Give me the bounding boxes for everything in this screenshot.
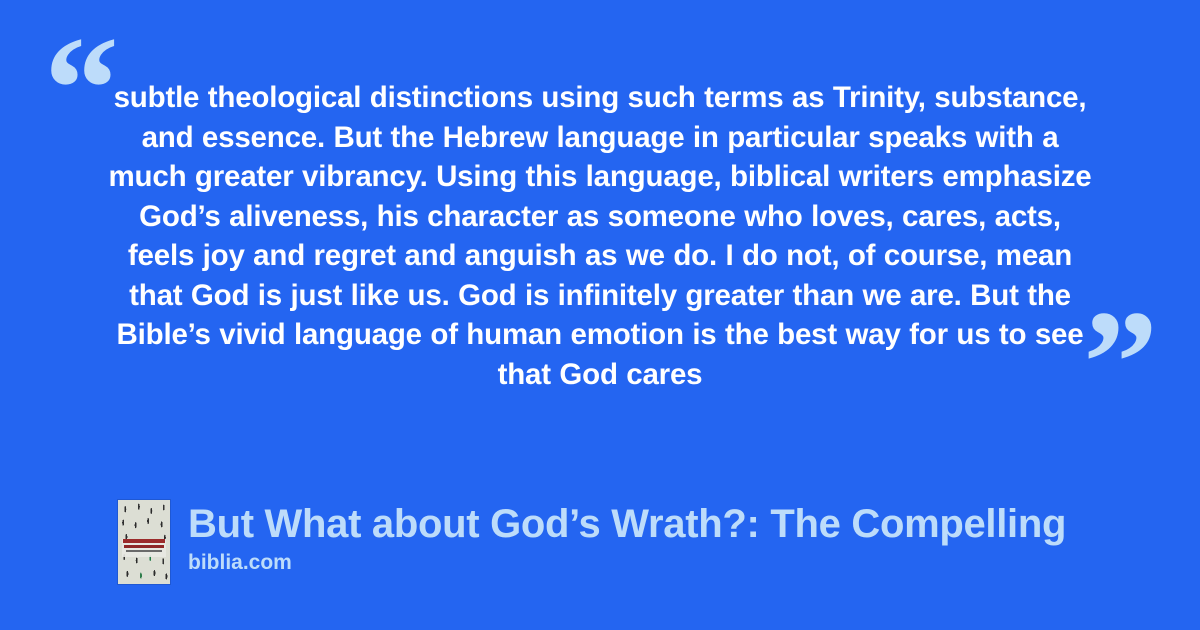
source-site[interactable]: biblia.com: [188, 550, 1066, 576]
book-cover-title-line: [123, 539, 165, 543]
book-cover-thumbnail: [118, 500, 170, 584]
book-cover-subtitle-line: [124, 545, 164, 548]
quote-body: subtle theological distinctions using su…: [108, 78, 1092, 394]
quote-text: subtle theological distinctions using su…: [108, 78, 1092, 394]
book-title: But What about God’s Wrath?: The Compell…: [188, 500, 1066, 549]
close-quote-icon: ”: [1083, 288, 1156, 438]
quote-card: “ subtle theological distinctions using …: [0, 0, 1200, 630]
open-quote-icon: “: [44, 14, 117, 164]
book-cover-byline: [126, 550, 162, 552]
attribution: But What about God’s Wrath?: The Compell…: [118, 500, 1200, 584]
source-text: But What about God’s Wrath?: The Compell…: [188, 500, 1066, 576]
